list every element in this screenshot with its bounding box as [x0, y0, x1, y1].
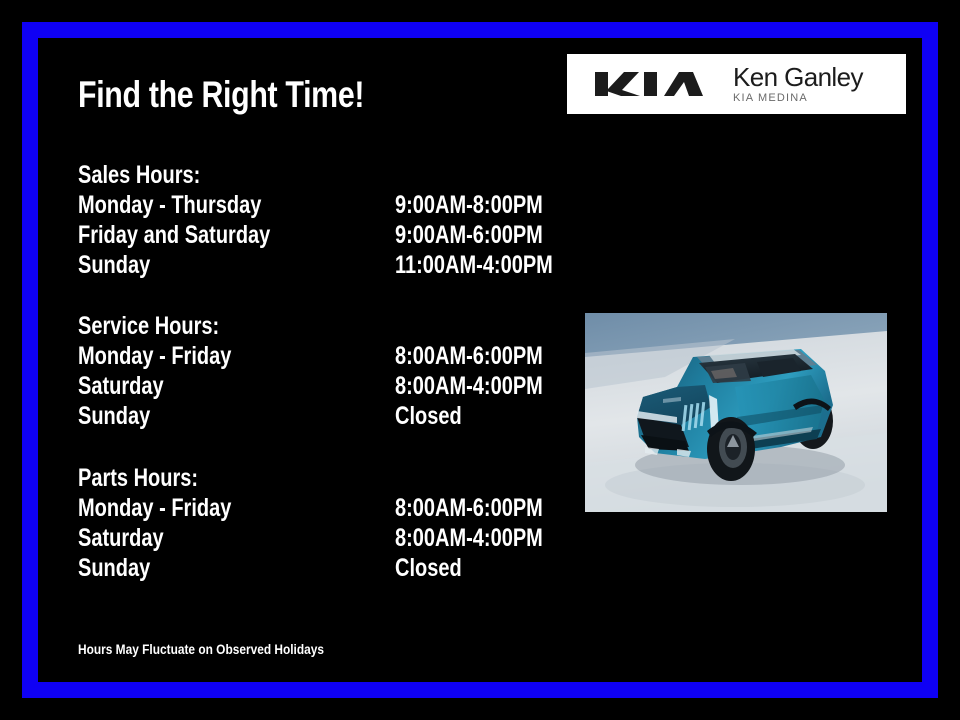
hours-row-time: 9:00AM-6:00PM	[395, 220, 543, 251]
dealer-logo-plate: Ken Ganley KIA MEDINA	[567, 54, 906, 114]
dealer-subtitle: KIA MEDINA	[733, 93, 863, 104]
hours-row-day: Sunday	[78, 401, 150, 432]
hours-row: Monday - Friday 8:00AM-6:00PM	[78, 493, 548, 523]
sales-hours-block: Sales Hours: Monday - Thursday 9:00AM-8:…	[78, 160, 548, 280]
hours-row: Monday - Friday 8:00AM-6:00PM	[78, 341, 548, 371]
hours-row: Sunday Closed	[78, 401, 548, 431]
kia-ev9-suv-photo	[585, 313, 887, 512]
service-hours-block: Service Hours: Monday - Friday 8:00AM-6:…	[78, 311, 548, 431]
hours-row-day: Friday and Saturday	[78, 220, 270, 251]
hours-row-day: Monday - Friday	[78, 341, 231, 372]
hours-row-time: 8:00AM-6:00PM	[395, 493, 543, 524]
hours-row-time: 9:00AM-8:00PM	[395, 190, 543, 221]
hours-row: Monday - Thursday 9:00AM-8:00PM	[78, 190, 548, 220]
slide-canvas: Find the Right Time! Sales Hours: Monday…	[0, 0, 960, 720]
dealer-name: Ken Ganley	[733, 64, 863, 90]
hours-row-day: Sunday	[78, 553, 150, 584]
hours-row-day: Sunday	[78, 250, 150, 281]
parts-hours-heading: Parts Hours:	[78, 463, 454, 493]
dealer-logo-text: Ken Ganley KIA MEDINA	[733, 64, 863, 104]
parts-hours-block: Parts Hours: Monday - Friday 8:00AM-6:00…	[78, 463, 548, 583]
sales-hours-heading: Sales Hours:	[78, 160, 454, 190]
hours-row-day: Monday - Thursday	[78, 190, 261, 221]
hours-row-day: Monday - Friday	[78, 493, 231, 524]
hours-row: Friday and Saturday 9:00AM-6:00PM	[78, 220, 548, 250]
hours-row-time: 8:00AM-4:00PM	[395, 523, 543, 554]
hours-row: Saturday 8:00AM-4:00PM	[78, 523, 548, 553]
kia-logo-icon	[591, 69, 707, 99]
page-title: Find the Right Time!	[78, 76, 364, 115]
hours-row-time: 8:00AM-4:00PM	[395, 371, 543, 402]
hours-row-day: Saturday	[78, 523, 164, 554]
hours-row-time: Closed	[395, 553, 462, 584]
holiday-disclaimer: Hours May Fluctuate on Observed Holidays	[78, 641, 324, 657]
service-hours-heading: Service Hours:	[78, 311, 454, 341]
hours-row-time: 8:00AM-6:00PM	[395, 341, 543, 372]
hours-row: Sunday 11:00AM-4:00PM	[78, 250, 548, 280]
hours-row-day: Saturday	[78, 371, 164, 402]
hours-row: Sunday Closed	[78, 553, 548, 583]
hours-row-time: Closed	[395, 401, 462, 432]
hours-row-time: 11:00AM-4:00PM	[395, 250, 553, 281]
hours-row: Saturday 8:00AM-4:00PM	[78, 371, 548, 401]
